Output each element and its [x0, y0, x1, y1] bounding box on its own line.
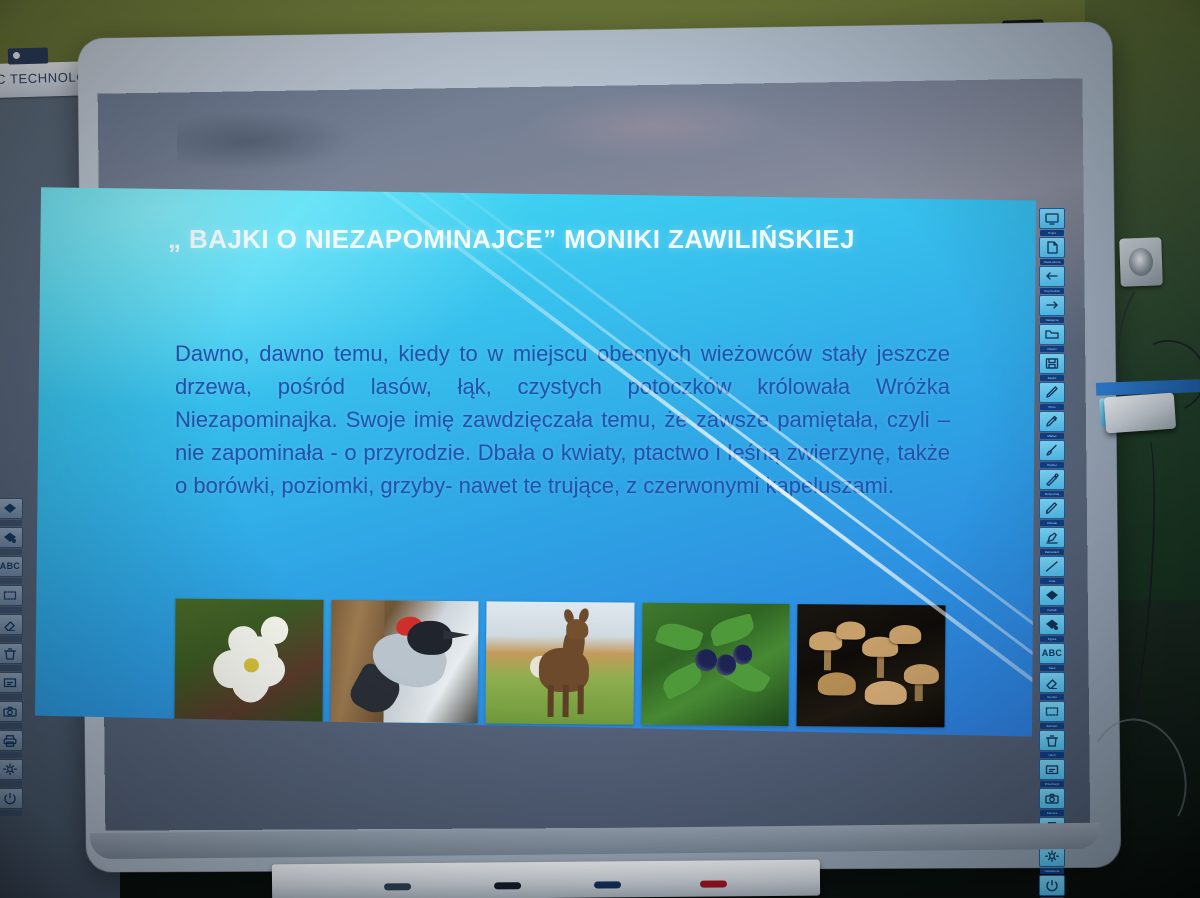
toolbar-item-label [0, 723, 22, 729]
toolbar-item-label [0, 752, 22, 758]
toolbar-item-label: Pędzel [1040, 462, 1064, 468]
toolbar-item-shape[interactable]: Figura [1039, 614, 1065, 642]
toolbar-item-label: Otwórz [1040, 346, 1064, 352]
toolbar-item-label: Pulpit [1040, 230, 1064, 236]
new-page-icon[interactable] [1039, 237, 1065, 258]
toolbar-item-label [0, 810, 22, 816]
power-adapter-block [1104, 393, 1176, 434]
camera-icon[interactable] [1039, 788, 1065, 809]
text-abc-icon[interactable]: ABC [0, 556, 23, 577]
toolbar-item-label [0, 665, 22, 671]
toolbar-item-label: Pióro [1040, 404, 1064, 410]
shape-icon[interactable] [1039, 614, 1065, 635]
toolbar-item-pencil[interactable]: Ołówek [1039, 498, 1065, 526]
save-disk-icon[interactable] [1039, 353, 1065, 374]
pen-tray[interactable] [272, 860, 820, 898]
toolbar-item-label: Kamera [1040, 810, 1064, 816]
toolbar-item-label [0, 607, 22, 613]
toolbar-item-capture[interactable]: Przechwyć [1039, 759, 1065, 787]
toolbar-item-label: Gumka [1040, 694, 1064, 700]
arrow-left-icon[interactable] [1039, 266, 1065, 287]
shape-fill-icon[interactable] [1039, 585, 1065, 606]
toolbar-item-eraser[interactable] [0, 614, 23, 642]
power-icon[interactable] [1039, 875, 1065, 896]
pen-black[interactable] [494, 882, 521, 889]
toolbar-item-settings[interactable]: Ustawienia [1039, 846, 1065, 874]
toolbar-item-eraser[interactable]: Gumka [1039, 672, 1065, 700]
text-abc-icon[interactable]: ABC [1039, 643, 1065, 664]
toolbar-item-label: Usuń [1040, 752, 1064, 758]
toolbar-item-marker[interactable]: Marker [1039, 411, 1065, 439]
toolbar-item-label: Rozpoznaj [1040, 491, 1064, 497]
toolbar-item-label [0, 694, 22, 700]
toolbar-item-text-abc[interactable]: ABCTekst [1039, 643, 1065, 671]
toolbar-item-label [0, 549, 22, 555]
toolbar-item-settings[interactable] [0, 759, 23, 787]
photo-roe-deer [486, 601, 635, 724]
classroom-scene: C TECHNOLOGIE „ BAJKI O NIEZAPOMINAJCE” … [0, 0, 1200, 898]
pen-blue-dark[interactable] [384, 883, 411, 890]
toolbar-item-new-page[interactable]: Nowa strona [1039, 237, 1065, 265]
trash-icon[interactable] [1039, 730, 1065, 751]
slide-photo-strip [174, 599, 945, 728]
toolbar-item-label [0, 636, 22, 642]
toolbar-item-label: Przechwyć [1040, 781, 1064, 787]
photo-mushrooms [797, 604, 946, 727]
pen-blue[interactable] [594, 881, 621, 888]
toolbar-item-label: Zapisz [1040, 375, 1064, 381]
capture-icon[interactable] [1039, 759, 1065, 780]
magic-pen-icon[interactable] [1039, 469, 1065, 490]
toolbar-item-label: Marker [1040, 433, 1064, 439]
wall-power-outlet [1119, 237, 1163, 286]
toolbar-item-select[interactable] [0, 585, 23, 613]
toolbar-item-label: Nowa strona [1040, 259, 1064, 265]
toolbar-item-trash[interactable]: Usuń [1039, 730, 1065, 758]
eraser-icon[interactable] [0, 614, 23, 635]
toolbar-item-select[interactable]: Zaznacz [1039, 701, 1065, 729]
marker-icon[interactable] [1039, 411, 1065, 432]
toolbar-item-arrow-right[interactable]: Następna [1039, 295, 1065, 323]
capture-icon[interactable] [0, 672, 23, 693]
photo-woodpecker-bird [330, 600, 479, 723]
select-icon[interactable] [1039, 701, 1065, 722]
toolbar-item-camera[interactable]: Kamera [1039, 788, 1065, 816]
toolbar-item-shape-fill[interactable]: Kształt [1039, 585, 1065, 613]
whiteboard-toolbar-left[interactable]: ABC [0, 498, 24, 817]
toolbar-item-highlighter[interactable]: Zakreślacz [1039, 527, 1065, 555]
toolbar-item-label [0, 520, 22, 526]
shape-fill-icon[interactable] [0, 498, 23, 519]
toolbar-item-power[interactable] [0, 788, 23, 816]
eraser-icon[interactable] [1039, 672, 1065, 693]
photo-blueberries [641, 603, 790, 726]
toolbar-item-label: Linia [1040, 578, 1064, 584]
toolbar-item-label: Zaznacz [1040, 723, 1064, 729]
brush-icon[interactable] [1039, 440, 1065, 461]
arrow-right-icon[interactable] [1039, 295, 1065, 316]
folder-open-icon[interactable] [1039, 324, 1065, 345]
toolbar-item-pen[interactable]: Pióro [1039, 382, 1065, 410]
toolbar-item-label: Ołówek [1040, 520, 1064, 526]
toolbar-item-trash[interactable] [0, 643, 23, 671]
pen-icon[interactable] [1039, 382, 1065, 403]
select-icon[interactable] [0, 585, 23, 606]
camera-icon[interactable] [0, 701, 23, 722]
power-icon[interactable] [0, 788, 23, 809]
highlighter-icon[interactable] [1039, 527, 1065, 548]
trash-icon[interactable] [0, 643, 23, 664]
toolbar-item-print[interactable] [0, 730, 23, 758]
surface-smudge [177, 110, 356, 172]
toolbar-item-label: Zakreślacz [1040, 549, 1064, 555]
toolbar-item-label: Kształt [1040, 607, 1064, 613]
toolbar-item-line[interactable]: Linia [1039, 556, 1065, 584]
slide-paragraph: Dawno, dawno temu, kiedy to w miejscu ob… [175, 337, 950, 502]
surface-glare [524, 89, 785, 163]
pencil-icon[interactable] [1039, 498, 1065, 519]
toolbar-item-text-abc[interactable]: ABC [0, 556, 23, 584]
toolbar-item-label: Następna [1040, 317, 1064, 323]
projected-slide: „ BAJKI O NIEZAPOMINAJCE” MONIKI ZAWILIŃ… [35, 185, 1040, 740]
toolbar-item-label: Poprzednia [1040, 288, 1064, 294]
toolbar-item-brush[interactable]: Pędzel [1039, 440, 1065, 468]
toolbar-item-shape[interactable] [0, 527, 23, 555]
slide-body-text: Dawno, dawno temu, kiedy to w miejscu ob… [175, 337, 950, 503]
toolbar-item-label [0, 578, 22, 584]
monitor-icon[interactable] [1039, 208, 1065, 229]
toolbar-item-folder-open[interactable]: Otwórz [1039, 324, 1065, 352]
toolbar-item-shape-fill[interactable] [0, 498, 23, 526]
toolbar-item-monitor[interactable]: Pulpit [1039, 208, 1065, 236]
shape-icon[interactable] [0, 527, 23, 548]
toolbar-item-save-disk[interactable]: Zapisz [1039, 353, 1065, 381]
photo-white-anemone-flower [174, 599, 323, 722]
toolbar-item-label: Tekst [1040, 665, 1064, 671]
toolbar-item-label: Figura [1040, 636, 1064, 642]
settings-icon[interactable] [0, 759, 23, 780]
whiteboard-toolbar-right[interactable]: PulpitNowa stronaPoprzedniaNastępnaOtwór… [1038, 208, 1066, 898]
toolbar-item-label [0, 781, 22, 787]
toolbar-item-power[interactable]: Wyjdź [1039, 875, 1065, 898]
toolbar-item-magic-pen[interactable]: Rozpoznaj [1039, 469, 1065, 497]
slide-title: „ BAJKI O NIEZAPOMINAJCE” MONIKI ZAWILIŃ… [168, 221, 908, 258]
pen-red[interactable] [700, 880, 727, 887]
toolbar-item-arrow-left[interactable]: Poprzednia [1039, 266, 1065, 294]
toolbar-item-capture[interactable] [0, 672, 23, 700]
outlet-socket-icon [1129, 248, 1154, 277]
print-icon[interactable] [0, 730, 23, 751]
toolbar-item-label: Ustawienia [1040, 868, 1064, 874]
line-icon[interactable] [1039, 556, 1065, 577]
toolbar-item-camera[interactable] [0, 701, 23, 729]
